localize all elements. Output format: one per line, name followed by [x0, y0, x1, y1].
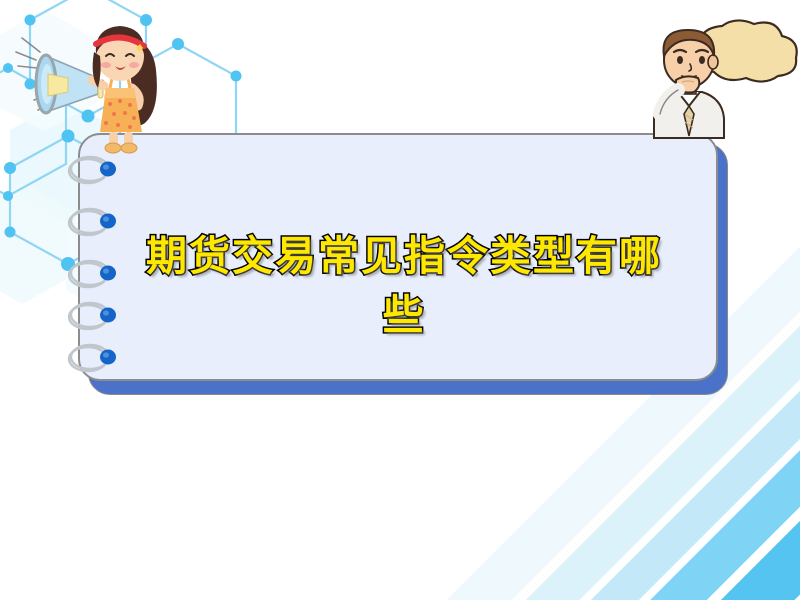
note-card-face: 期货交易常见指令类型有哪些	[78, 133, 718, 381]
megaphone-icon	[36, 55, 104, 113]
spiral-binding-icon	[66, 149, 126, 375]
thinking-man-illustration	[640, 14, 800, 149]
slide-title-text: 期货交易常见指令类型有哪些	[140, 227, 668, 346]
slide-title: 期货交易常见指令类型有哪些	[140, 227, 668, 346]
note-card[interactable]: 期货交易常见指令类型有哪些	[78, 133, 728, 395]
slide-canvas: 期货交易常见指令类型有哪些	[0, 0, 800, 600]
thought-bubble-icon	[685, 20, 797, 89]
